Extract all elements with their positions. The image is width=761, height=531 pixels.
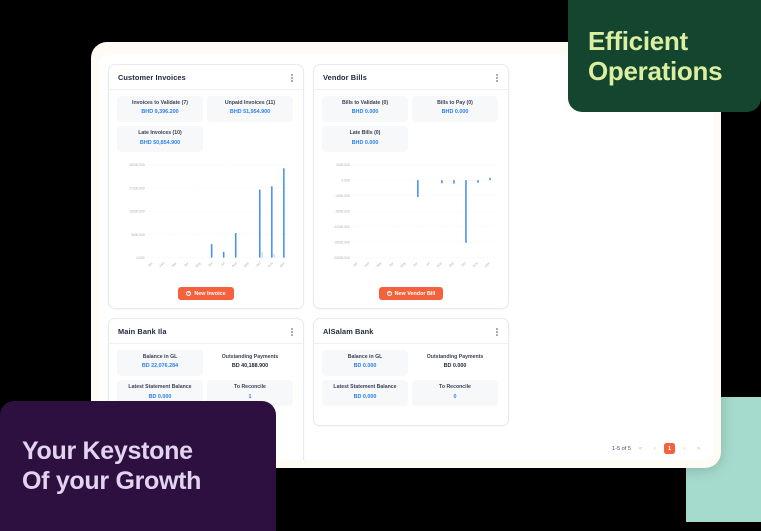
svg-text:Aug: Aug <box>231 261 238 269</box>
vendor-bills-chart: 4000.0000.000-4000.000-8000.000-12000.00… <box>314 156 508 283</box>
last-page-icon[interactable]: » <box>694 444 703 453</box>
svg-text:-12000.000: -12000.000 <box>333 225 349 229</box>
kpi-label: Late Invoices (10) <box>119 130 201 138</box>
screenshot-stage: Customer Invoices Invoices to Validate (… <box>0 0 761 531</box>
kpi-label: Outstanding Payments <box>414 354 496 362</box>
kpi-value: BHD 51,954.900 <box>209 108 291 117</box>
badge-line-1: Your Keystone <box>22 436 254 467</box>
kpi-value: 0 <box>414 393 496 402</box>
kpi-label: Late Bills (0) <box>324 130 406 138</box>
card-header: Main Bank Ila <box>109 319 303 344</box>
kpi-tile[interactable]: Balance in GL BD 0.000 <box>322 350 408 376</box>
kpi-value: BHD 50,854.900 <box>119 139 201 148</box>
kpi-label: Invoices to Validate (7) <box>119 100 201 108</box>
kpi-tiles: Balance in GL BD 0.000 Outstanding Payme… <box>314 344 508 411</box>
card-title: Main Bank Ila <box>118 327 167 336</box>
kpi-label: To Reconcile <box>209 384 291 392</box>
svg-text:9000.000: 9000.000 <box>131 233 145 237</box>
pagination-range: 1-5 of 5 <box>612 446 631 452</box>
kpi-label: To Reconcile <box>414 384 496 392</box>
kpi-label: Bills to Validate (0) <box>324 100 406 108</box>
svg-text:Dec: Dec <box>484 261 491 269</box>
svg-text:36000.000: 36000.000 <box>129 163 144 167</box>
svg-text:Apr: Apr <box>183 261 190 269</box>
plus-icon: + <box>186 291 191 296</box>
svg-text:Jul: Jul <box>220 261 226 267</box>
kpi-label: Outstanding Payments <box>209 354 291 362</box>
kebab-menu-icon[interactable] <box>290 326 294 338</box>
svg-text:Feb: Feb <box>159 261 165 268</box>
card-vendor-bills: Vendor Bills Bills to Validate (0) BHD 0… <box>313 64 509 309</box>
your-keystone-badge: Your Keystone Of your Growth <box>0 401 276 531</box>
kpi-tile[interactable]: Unpaid Invoices (11) BHD 51,954.900 <box>207 96 293 122</box>
kpi-value: BD 0.000 <box>324 393 406 402</box>
kpi-value: BHD 0.000 <box>324 108 406 117</box>
kpi-label: Balance in GL <box>324 354 406 362</box>
kpi-label: Latest Statement Balance <box>324 384 406 392</box>
svg-text:May: May <box>400 261 407 269</box>
svg-text:Dec: Dec <box>279 261 286 269</box>
svg-text:Jan: Jan <box>352 261 358 268</box>
svg-text:-16000.000: -16000.000 <box>333 241 349 245</box>
kpi-tiles: Bills to Validate (0) BHD 0.000 Bills to… <box>314 90 508 157</box>
kpi-tile[interactable]: Late Bills (0) BHD 0.000 <box>322 126 408 152</box>
kpi-label: Latest Statement Balance <box>119 384 201 392</box>
kpi-label: Bills to Pay (0) <box>414 100 496 108</box>
svg-text:0.000: 0.000 <box>342 179 350 183</box>
kpi-value: BHD 0.000 <box>414 108 496 117</box>
svg-text:Aug: Aug <box>436 261 443 269</box>
svg-text:Mar: Mar <box>376 261 383 269</box>
pagination: 1-5 of 5 « ‹ 1 › » <box>612 443 703 454</box>
kpi-tile[interactable]: Outstanding Payments BD 0.000 <box>412 350 498 376</box>
svg-text:-8000.000: -8000.000 <box>335 210 350 214</box>
card-header: Vendor Bills <box>314 65 508 90</box>
card-header: AlSalam Bank <box>314 319 508 344</box>
svg-text:Jul: Jul <box>425 261 431 267</box>
kpi-value: BD 22,076.284 <box>119 362 201 371</box>
next-page-icon[interactable]: › <box>680 444 689 453</box>
svg-text:Oct: Oct <box>256 261 262 268</box>
kpi-value: BHD 9,396.200 <box>119 108 201 117</box>
svg-text:Sep: Sep <box>448 261 455 269</box>
accounting-dashboard: Customer Invoices Invoices to Validate (… <box>99 54 713 460</box>
kpi-tile[interactable]: Late Invoices (10) BHD 50,854.900 <box>117 126 203 152</box>
new-invoice-button[interactable]: + New Invoice <box>178 287 233 300</box>
svg-text:Jan: Jan <box>147 261 153 268</box>
card-footer: + New Invoice <box>109 283 303 308</box>
kpi-tile[interactable]: Bills to Pay (0) BHD 0.000 <box>412 96 498 122</box>
kpi-value: BD 0.000 <box>414 362 496 371</box>
svg-text:Nov: Nov <box>472 261 479 269</box>
kpi-tile[interactable]: Latest Statement Balance BD 0.000 <box>322 380 408 406</box>
badge-line-2: Operations <box>588 56 741 86</box>
window-content-area: Customer Invoices Invoices to Validate (… <box>99 54 713 460</box>
current-page-button[interactable]: 1 <box>664 443 675 454</box>
badge-line-1: Efficient <box>588 26 741 56</box>
svg-text:4000.000: 4000.000 <box>336 163 350 167</box>
svg-text:May: May <box>195 261 202 269</box>
kpi-label: Balance in GL <box>119 354 201 362</box>
kpi-tile[interactable]: Invoices to Validate (7) BHD 9,396.200 <box>117 96 203 122</box>
svg-text:Jun: Jun <box>207 261 213 268</box>
card-title: Vendor Bills <box>323 73 367 82</box>
kpi-label: Unpaid Invoices (11) <box>209 100 291 108</box>
card-footer: + New Vendor Bill <box>314 283 508 308</box>
kebab-menu-icon[interactable] <box>495 326 499 338</box>
customer-invoices-chart: 0.0009000.00018000.00027000.00036000.000… <box>109 156 303 283</box>
badge-line-2: Of your Growth <box>22 466 254 497</box>
kpi-tiles: Invoices to Validate (7) BHD 9,396.200 U… <box>109 90 303 157</box>
svg-text:-20000.000: -20000.000 <box>333 256 349 260</box>
plus-icon: + <box>387 291 392 296</box>
kpi-value: BD 40,188.900 <box>209 362 291 371</box>
first-page-icon[interactable]: « <box>636 444 645 453</box>
svg-text:Apr: Apr <box>388 261 395 269</box>
card-customer-invoices: Customer Invoices Invoices to Validate (… <box>108 64 304 309</box>
svg-text:Oct: Oct <box>461 261 467 268</box>
kebab-menu-icon[interactable] <box>495 72 499 84</box>
svg-text:27000.000: 27000.000 <box>129 187 144 191</box>
efficient-operations-badge: Efficient Operations <box>568 0 761 112</box>
card-title: Customer Invoices <box>118 73 186 82</box>
svg-text:0.000: 0.000 <box>137 256 145 260</box>
kpi-tile[interactable]: Outstanding Payments BD 40,188.900 <box>207 350 293 376</box>
svg-text:-4000.000: -4000.000 <box>335 194 350 198</box>
card-title: AlSalam Bank <box>323 327 374 336</box>
kpi-tile[interactable]: To Reconcile 0 <box>412 380 498 406</box>
card-alsalam-bank: AlSalam Bank Balance in GL BD 0.000 Outs… <box>313 318 509 426</box>
kpi-value: BD 0.000 <box>324 362 406 371</box>
svg-text:Feb: Feb <box>364 261 370 268</box>
kpi-value: BHD 0.000 <box>324 139 406 148</box>
svg-text:Nov: Nov <box>267 261 274 269</box>
kebab-menu-icon[interactable] <box>290 72 294 84</box>
kpi-tile[interactable]: Balance in GL BD 22,076.284 <box>117 350 203 376</box>
kpi-tile[interactable]: Bills to Validate (0) BHD 0.000 <box>322 96 408 122</box>
svg-text:18000.000: 18000.000 <box>129 210 144 214</box>
svg-text:Sep: Sep <box>243 261 250 269</box>
svg-text:Mar: Mar <box>171 261 178 269</box>
button-label: New Invoice <box>194 291 225 297</box>
prev-page-icon[interactable]: ‹ <box>650 444 659 453</box>
new-vendor-bill-button[interactable]: + New Vendor Bill <box>379 287 444 300</box>
button-label: New Vendor Bill <box>395 291 436 297</box>
card-header: Customer Invoices <box>109 65 303 90</box>
svg-text:Jun: Jun <box>412 261 418 268</box>
